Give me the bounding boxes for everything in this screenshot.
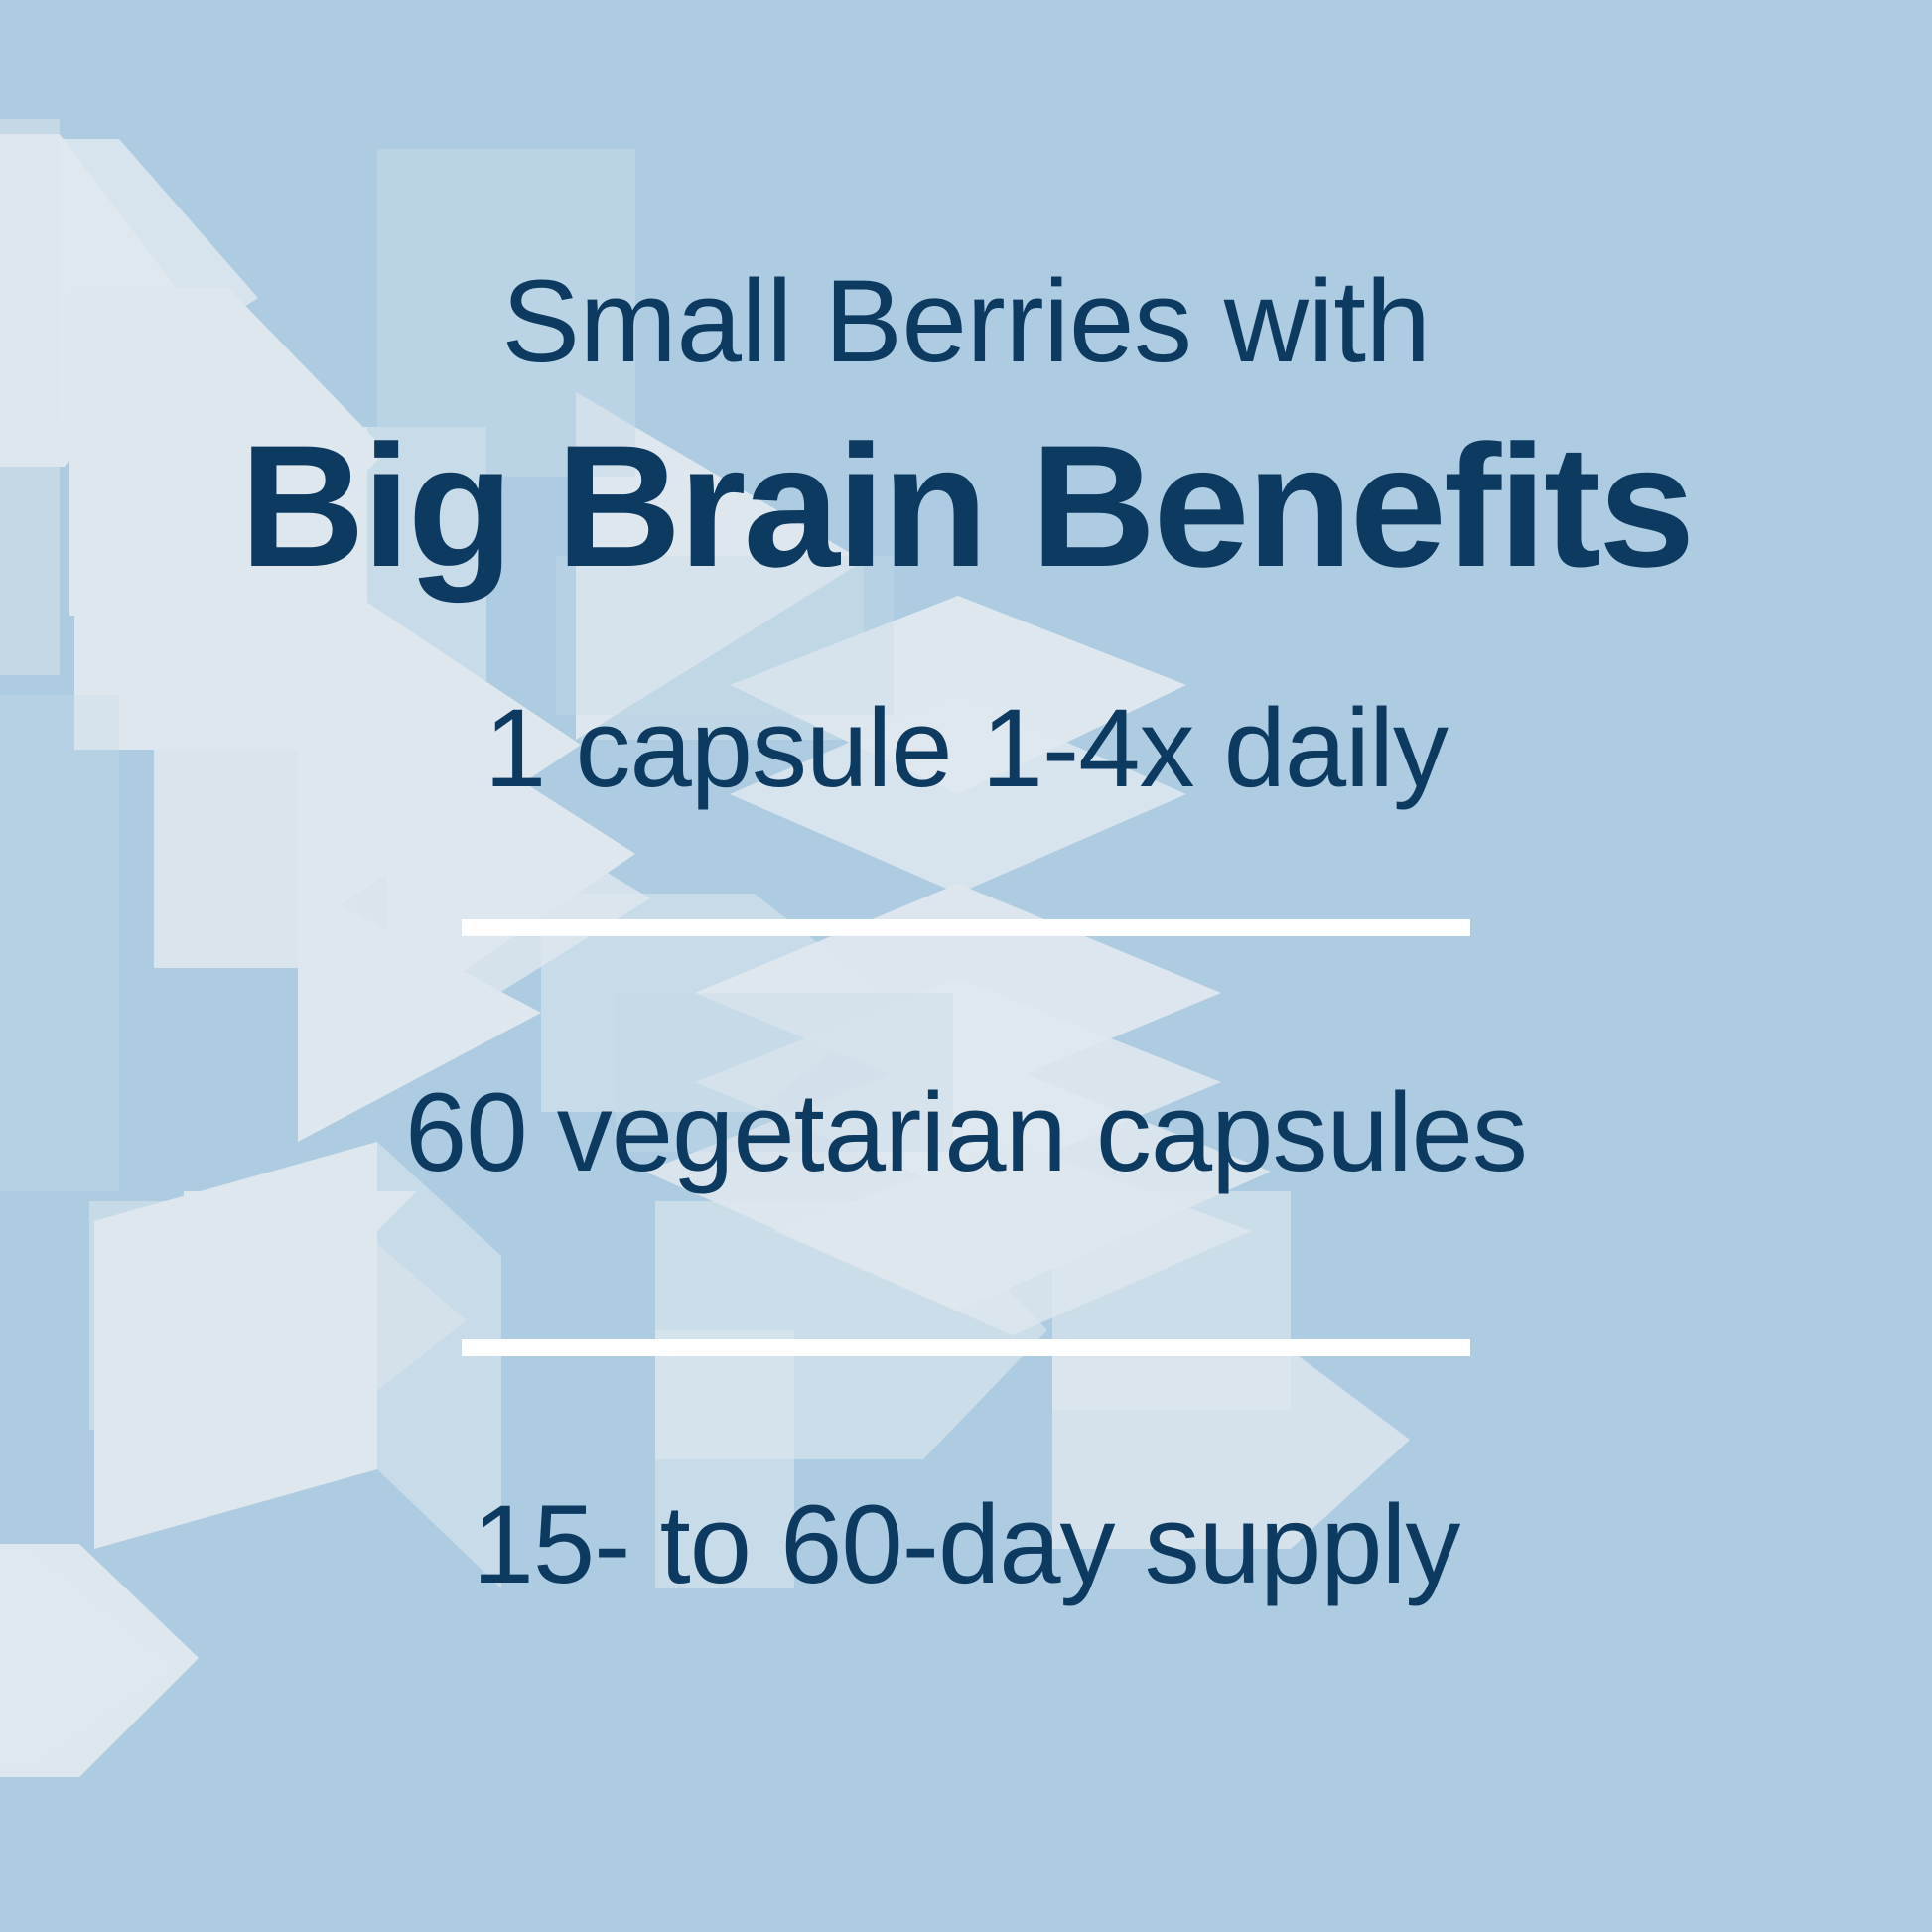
eyebrow-text: Small Berries with: [501, 263, 1430, 380]
divider-2: [462, 1339, 1470, 1356]
page-title: Big Brain Benefits: [240, 420, 1693, 594]
fact-count: 60 vegetarian capsules: [405, 1077, 1527, 1188]
divider-1: [462, 919, 1470, 936]
fact-supply: 15- to 60-day supply: [473, 1489, 1460, 1600]
fact-dosage: 1 capsule 1-4x daily: [484, 693, 1448, 804]
promo-graphic: Small Berries with Big Brain Benefits 1 …: [0, 0, 1932, 1932]
promo-copy: Small Berries with Big Brain Benefits 1 …: [0, 0, 1932, 1932]
